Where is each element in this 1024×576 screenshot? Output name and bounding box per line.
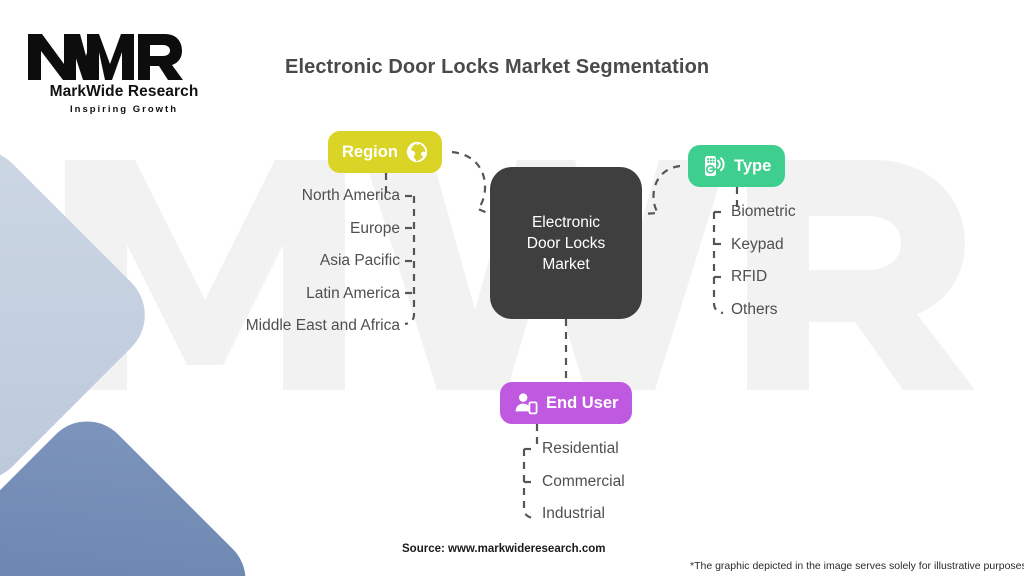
leaf-region-north-america: North America	[80, 187, 400, 205]
leaf-region-middle-east-africa: Middle East and Africa	[80, 317, 400, 335]
branch-badge-type[interactable]: Type	[688, 145, 785, 187]
globe-icon	[406, 141, 428, 163]
page-title: Electronic Door Locks Market Segmentatio…	[285, 56, 709, 79]
connector-region-to-center	[452, 152, 490, 214]
connector-region-spine	[405, 196, 414, 324]
leaf-type-rfid: RFID	[731, 268, 767, 286]
leaf-region-asia-pacific: Asia Pacific	[80, 252, 400, 270]
mwr-monogram-icon	[24, 30, 184, 82]
center-node: Electronic Door Locks Market	[490, 167, 642, 319]
brand-tagline: Inspiring Growth	[24, 104, 224, 115]
branch-label-type: Type	[734, 157, 771, 176]
user-device-icon	[514, 391, 538, 415]
leaf-type-keypad: Keypad	[731, 236, 784, 254]
leaf-enduser-commercial: Commercial	[542, 473, 625, 491]
branch-label-end-user: End User	[546, 394, 618, 413]
connector-enduser-spine	[524, 449, 533, 518]
leaf-region-latin-america: Latin America	[80, 285, 400, 303]
branch-label-region: Region	[342, 143, 398, 162]
leaf-type-others: Others	[731, 301, 778, 319]
brand-name: MarkWide Research	[24, 83, 224, 101]
connector-type-to-center	[642, 166, 680, 214]
infographic-canvas: MarkWide Research Inspiring Growth Elect…	[0, 0, 1024, 576]
center-node-label: Electronic Door Locks Market	[527, 212, 605, 275]
source-attribution: Source: www.markwideresearch.com	[402, 543, 605, 555]
smart-door-lock-icon	[702, 154, 726, 178]
brand-logo: MarkWide Research Inspiring Growth	[24, 30, 224, 115]
leaf-region-europe: Europe	[80, 220, 400, 238]
branch-badge-region[interactable]: Region	[328, 131, 442, 173]
branch-badge-end-user[interactable]: End User	[500, 382, 632, 424]
disclaimer-note: *The graphic depicted in the image serve…	[690, 560, 1024, 572]
leaf-enduser-residential: Residential	[542, 440, 619, 458]
leaf-enduser-industrial: Industrial	[542, 505, 605, 523]
leaf-type-biometric: Biometric	[731, 203, 796, 221]
decorative-square-dark	[0, 403, 264, 576]
connector-type-spine	[714, 212, 723, 313]
